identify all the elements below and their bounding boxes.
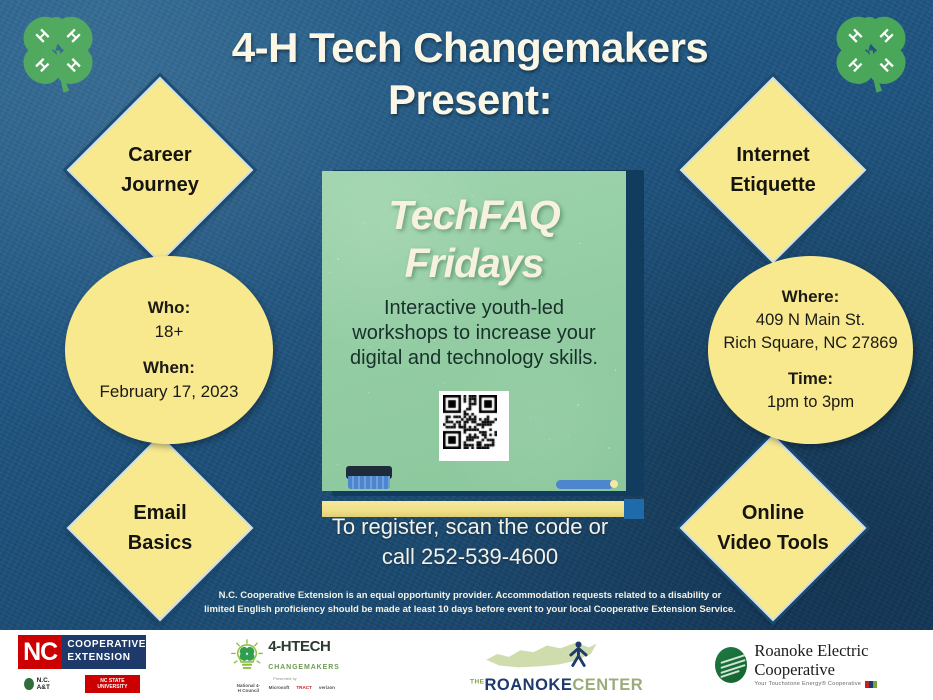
4ht-sponsor-list: National 4-H Council Microsoft TRACT ver… <box>235 683 335 693</box>
university-seal-icon <box>24 678 34 690</box>
chalk-stick-icon <box>556 480 614 489</box>
footer-logo-bar: NC COOPERATIVE EXTENSION N.C. A&T NC STA… <box>0 630 933 700</box>
sponsor-1: National 4-H Council <box>235 683 262 693</box>
sponsor-4: verizon <box>319 685 335 690</box>
nce-sub-1: N.C. A&T <box>37 677 59 691</box>
sponsor-3: TRACT <box>296 685 312 690</box>
chalkboard: TechFAQ Fridays Interactive youth-led wo… <box>322 168 634 503</box>
topic-label-line2: Journey <box>121 170 199 200</box>
board-title: TechFAQ Fridays <box>322 191 626 288</box>
nc-state-outline-icon <box>470 635 625 675</box>
4h-clover-icon: H H H H <box>12 8 104 100</box>
roanoke-center-the: THE <box>470 679 485 686</box>
when-label: When: <box>100 357 239 380</box>
topic-label-line2: Video Tools <box>717 528 829 558</box>
board-description: Interactive youth-led workshops to incre… <box>334 296 614 372</box>
disclaimer-line-2: limited English proficiency should be ma… <box>120 603 820 617</box>
where-label: Where: <box>723 286 897 309</box>
4ht-name-1: 4-HTECH <box>268 638 330 655</box>
flyer-poster: H H H H H H H <box>0 0 933 700</box>
4ht-partners-label: Presented by <box>235 677 335 681</box>
rec-name: Roanoke Electric Cooperative <box>754 642 933 678</box>
roanoke-center-name-2: CENTER <box>572 676 643 694</box>
roanoke-center-name: THEROANOKECENTER <box>470 676 625 695</box>
nce-sub-2: NC STATE UNIVERSITY <box>85 675 140 694</box>
nce-word-2: EXTENSION <box>67 652 146 665</box>
qr-code-icon[interactable] <box>439 391 509 461</box>
touchstone-flag-icon <box>865 681 877 688</box>
logo-roanoke-center: THEROANOKECENTER <box>470 630 625 700</box>
board-title-line1: TechFAQ <box>388 192 559 238</box>
topic-label-line1: Internet <box>736 140 809 170</box>
nce-nc-at-logo: N.C. A&T <box>24 677 59 691</box>
disclaimer: N.C. Cooperative Extension is an equal o… <box>120 589 820 618</box>
chalkboard-eraser-felt-icon <box>348 476 390 489</box>
board-title-line2: Fridays <box>322 239 626 287</box>
register-instructions: To register, scan the code or call 252-5… <box>270 512 670 571</box>
logo-4h-tech-changemakers: 4-HTECH CHANGEMAKERS Presented by Nation… <box>235 630 335 700</box>
event-details-who-when: Who: 18+ When: February 17, 2023 <box>65 256 273 444</box>
topic-label-line1: Online <box>742 498 804 528</box>
who-value: 18+ <box>148 320 190 343</box>
chalk-tip-icon <box>610 480 618 488</box>
where-line-1: 409 N Main St. <box>723 309 897 332</box>
topic-label-line1: Email <box>133 498 186 528</box>
logo-nc-cooperative-extension: NC COOPERATIVE EXTENSION N.C. A&T NC STA… <box>18 630 146 700</box>
topic-label-line2: Basics <box>128 528 193 558</box>
event-details-where-time: Where: 409 N Main St. Rich Square, NC 27… <box>708 256 913 444</box>
title-line-2: Present: <box>140 74 800 126</box>
green-circle-lines-icon <box>715 647 747 683</box>
lightbulb-clover-icon <box>230 639 264 673</box>
topic-label-line2: Etiquette <box>730 170 816 200</box>
disclaimer-line-1: N.C. Cooperative Extension is an equal o… <box>219 590 722 601</box>
when-value: February 17, 2023 <box>100 380 239 403</box>
title-line-1: 4-H Tech Changemakers <box>232 24 709 71</box>
logo-roanoke-electric-cooperative: Roanoke Electric Cooperative Your Touchs… <box>715 630 933 700</box>
register-line-1: To register, scan the code or <box>332 514 608 539</box>
flyer-body: H H H H H H H <box>0 0 933 630</box>
time-value: 1pm to 3pm <box>767 391 854 414</box>
sponsor-2: Microsoft <box>269 685 290 690</box>
4h-clover-icon: H H H H <box>825 8 917 100</box>
who-label: Who: <box>148 297 190 320</box>
nce-nc-mark: NC <box>18 635 62 669</box>
rec-tagline: Your Touchstone Energy® Cooperative <box>754 681 861 687</box>
time-label: Time: <box>767 368 854 391</box>
where-line-2: Rich Square, NC 27869 <box>723 332 897 355</box>
nce-word-1: COOPERATIVE <box>67 639 146 652</box>
chalkboard-surface: TechFAQ Fridays Interactive youth-led wo… <box>322 171 626 491</box>
roanoke-center-name-1: ROANOKE <box>485 676 573 694</box>
page-title: 4-H Tech Changemakers Present: <box>140 22 800 126</box>
register-line-2: call 252-539-4600 <box>270 542 670 572</box>
topic-label-line1: Career <box>128 140 191 170</box>
4ht-name-2: CHANGEMAKERS <box>268 664 339 671</box>
